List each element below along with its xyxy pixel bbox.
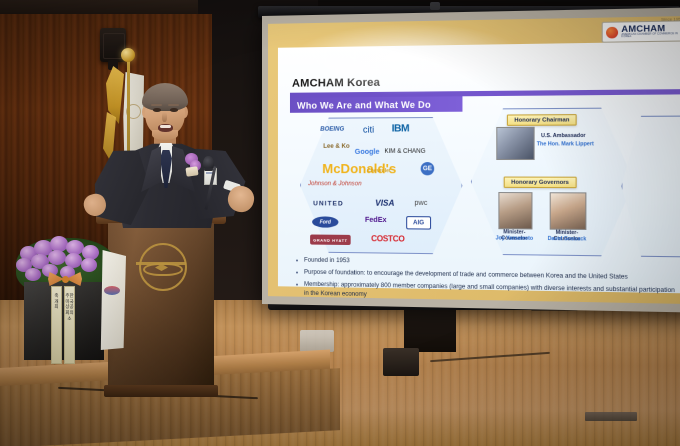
amcham-logo: AMCHAM AMERICAN CHAMBER OF COMMERCE IN K…	[602, 20, 680, 42]
logo-kim-and-chang: KIM & CHANG	[384, 149, 425, 155]
logo-ibm: IBM	[392, 123, 409, 134]
speaker-teeth	[160, 125, 171, 128]
logo-boeing: BOEING	[320, 127, 344, 133]
podium-emblem-bar	[136, 262, 186, 265]
speaker-eyebrow-right	[168, 104, 179, 106]
speaker-eye-right	[170, 108, 178, 112]
flag-finial-icon	[121, 48, 135, 62]
second-flag-emblem	[104, 286, 120, 295]
speaker-eye-left	[153, 108, 161, 112]
governor-photo-2	[550, 192, 587, 230]
logo-chevrolet: Chevrolet	[367, 168, 391, 174]
slide-copyright: Copyright 2018 © American Chamber of Com…	[290, 302, 422, 305]
far-right-hexagon	[621, 115, 680, 257]
flower-bloom	[81, 258, 97, 272]
bullet-item: Founded in 1953	[294, 256, 677, 270]
screen-hook	[430, 2, 440, 10]
logo-united: UNITED	[313, 200, 344, 207]
floor-outlet-plate	[585, 412, 637, 421]
logo-johnson-and-johnson: Johnson & Johnson	[308, 181, 362, 187]
governor-1-name: Joy Yamamoto	[492, 235, 537, 242]
slide-bullet-list: Founded in 1953 Purpose of foundation: t…	[294, 256, 677, 304]
podium-emblem-icon	[139, 243, 187, 291]
logo-citi: citi	[363, 124, 374, 134]
bullet-item: Membership: approximately 800 member com…	[294, 281, 677, 304]
congratulatory-ribbon-right: 주한미국상공회의소	[64, 286, 75, 364]
logo-grand-hyatt: GRAND HYATT	[310, 234, 351, 245]
amcham-subtext: AMERICAN CHAMBER OF COMMERCE IN KOREA	[621, 33, 680, 39]
congratulatory-ribbon-left: 축 개 최	[51, 286, 62, 364]
chairman-title: U.S. Ambassador	[541, 133, 586, 140]
flower-bloom	[48, 250, 66, 265]
bow-knot	[62, 276, 69, 283]
slide-title: AMCHAM Korea	[292, 77, 380, 90]
logo-ge: GE	[421, 162, 435, 175]
logo-google: Google	[355, 149, 380, 156]
speaker-eyebrow-left	[151, 104, 162, 106]
logo-visa: VISA	[375, 199, 394, 208]
governor-photo-1	[498, 192, 532, 229]
presentation-slide: Since 1953 AMCHAM AMERICAN CHAMBER OF CO…	[268, 16, 680, 304]
chairman-photo	[496, 127, 534, 160]
ribbon-text: 주한미국상공회의소	[65, 293, 74, 321]
governor-2-name: David Gossack	[543, 236, 591, 243]
honorary-governors-label: Honorary Governors	[504, 177, 577, 189]
logo-costco: COSTCO	[371, 234, 404, 244]
ribbon-text: 축 개 최	[52, 293, 61, 310]
slide-subtitle-banner: Who We Are and What We Do	[290, 96, 462, 113]
logo-pwc: pwc	[414, 200, 427, 207]
logo-lee-and-ko: Lee & Ko	[323, 144, 349, 150]
floor-speaker-box	[383, 348, 419, 376]
speaker-nose	[162, 112, 167, 122]
slide-subtitle: Who We Are and What We Do	[290, 99, 431, 110]
microphone-ring	[204, 168, 213, 171]
amcham-globe-icon	[606, 26, 618, 38]
logo-ford: Ford	[312, 216, 338, 227]
flower-bloom	[25, 268, 41, 281]
speaker-corsage	[183, 153, 203, 177]
photo-scene: Since 1953 AMCHAM AMERICAN CHAMBER OF CO…	[0, 0, 680, 446]
slide-content-area: AMCHAM Korea Who We Are and What We Do B…	[278, 42, 680, 294]
logo-fedex: FedEx	[365, 217, 387, 224]
corsage-ribbon	[185, 166, 198, 177]
honorary-chairman-label: Honorary Chairman	[507, 114, 577, 126]
projection-screen: Since 1953 AMCHAM AMERICAN CHAMBER OF CO…	[262, 7, 680, 312]
ribbon-bow	[48, 270, 82, 288]
logo-aig: AIG	[406, 216, 431, 229]
podium-base	[104, 385, 218, 397]
chairman-name: The Hon. Mark Lippert	[537, 141, 594, 148]
